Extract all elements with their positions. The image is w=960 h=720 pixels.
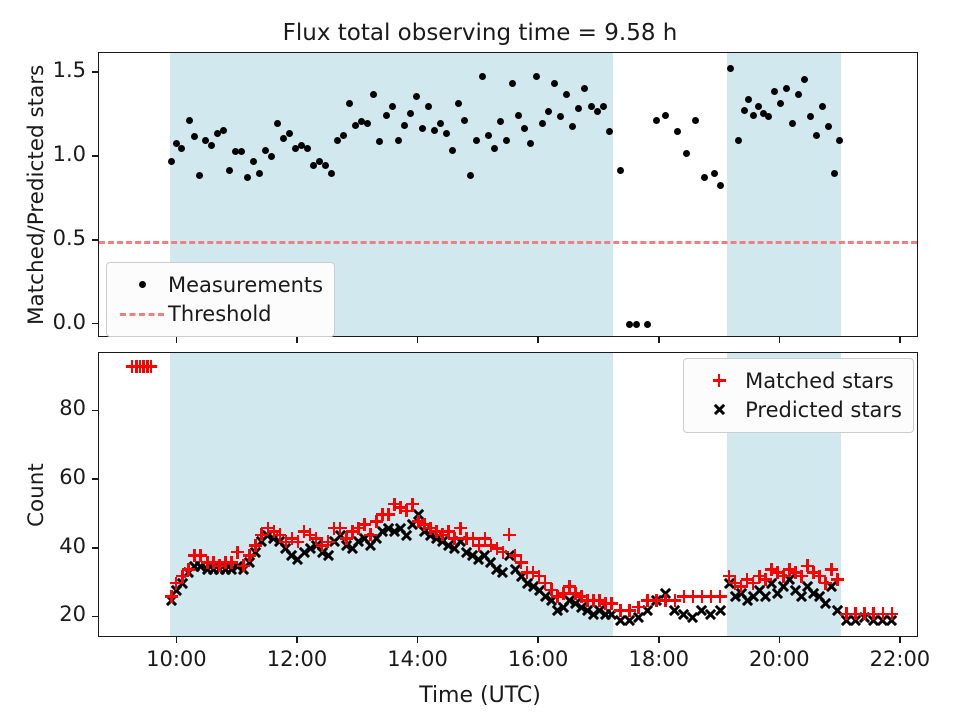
measurement-point	[503, 137, 510, 144]
predicted-star-point	[279, 542, 292, 555]
matched-star-point	[581, 594, 594, 607]
matched-star-point	[328, 522, 341, 535]
x-tick-mark	[417, 337, 419, 343]
matched-star-point	[442, 525, 455, 538]
measurement-point	[765, 113, 772, 120]
matched-star-point	[867, 607, 880, 620]
measurement-point	[745, 96, 752, 103]
predicted-star-point	[581, 604, 594, 617]
predicted-star-point	[789, 583, 802, 596]
matched-star-point	[825, 563, 838, 576]
x-tick-mark	[417, 637, 419, 643]
y-tick-mark	[92, 155, 98, 157]
measurement-point	[711, 170, 718, 177]
predicted-star-point	[533, 583, 546, 596]
measurement-point	[551, 80, 558, 87]
predicted-star-point	[388, 525, 401, 538]
predicted-star-point	[885, 614, 898, 627]
x-tick-mark	[899, 337, 901, 343]
matched-star-point	[255, 528, 268, 541]
predicted-star-point	[201, 563, 214, 576]
matched-star-point	[130, 360, 143, 373]
predicted-star-point	[575, 601, 588, 614]
predicted-star-point	[831, 604, 844, 617]
predicted-star-point	[765, 577, 778, 590]
measurement-point	[232, 148, 239, 155]
top-panel-legend: Measurements Threshold	[106, 262, 335, 337]
x-tick-mark	[779, 337, 781, 343]
matched-star-point	[659, 594, 672, 607]
x-axis-label: Time (UTC)	[0, 683, 960, 708]
predicted-star-point	[807, 587, 820, 600]
y-tick-mark	[92, 478, 98, 480]
predicted-star-point	[509, 563, 522, 576]
matched-star-point	[735, 580, 748, 593]
predicted-star-point	[819, 597, 832, 610]
y-tick-mark	[92, 323, 98, 325]
measurement-point	[364, 120, 371, 127]
measurement-point	[539, 120, 546, 127]
matched-star-point	[484, 539, 497, 552]
measurement-point	[485, 132, 492, 139]
matched-star-point	[807, 566, 820, 579]
measurement-point	[521, 125, 528, 132]
matched-star-point	[400, 504, 413, 517]
predicted-star-point	[188, 559, 201, 572]
measurement-point	[479, 73, 486, 80]
matched-star-point	[831, 573, 844, 586]
matched-star-point	[557, 587, 570, 600]
predicted-star-point	[545, 594, 558, 607]
y-tick-label: 40	[59, 534, 86, 558]
matched-star-point	[316, 539, 329, 552]
matched-star-point	[668, 594, 681, 607]
predicted-star-point	[182, 566, 195, 579]
legend-item-predicted-stars[interactable]: Predicted stars	[695, 395, 902, 424]
measurement-point	[836, 137, 843, 144]
predicted-star-point	[686, 611, 699, 624]
predicted-star-point	[328, 535, 341, 548]
predicted-star-point	[358, 532, 371, 545]
measurement-point	[298, 142, 305, 149]
matched-star-point	[267, 525, 280, 538]
x-tick-label: 18:00	[617, 647, 701, 671]
x-tick-label: 20:00	[737, 647, 821, 671]
measurement-point	[533, 73, 540, 80]
measurement-point	[202, 137, 209, 144]
matched-star-point	[765, 563, 778, 576]
legend-item-matched-stars[interactable]: Matched stars	[695, 366, 902, 395]
matched-star-point	[729, 577, 742, 590]
predicted-star-point	[723, 577, 736, 590]
matched-star-point	[213, 559, 226, 572]
plus-marker-icon	[695, 370, 743, 392]
matched-star-point	[478, 532, 491, 545]
predicted-star-point	[207, 563, 220, 576]
predicted-star-point	[165, 594, 178, 607]
predicted-star-point	[599, 607, 612, 620]
matched-star-point	[641, 594, 654, 607]
predicted-star-point	[194, 559, 207, 572]
predicted-star-point	[370, 532, 383, 545]
matched-star-point	[789, 566, 802, 579]
predicted-star-point	[322, 549, 335, 562]
matched-star-point	[304, 528, 317, 541]
matched-star-point	[188, 549, 201, 562]
matched-star-point	[545, 583, 558, 596]
matched-star-point	[771, 566, 784, 579]
measurement-point	[750, 112, 757, 119]
x-tick-label: 22:00	[858, 647, 942, 671]
predicted-star-point	[213, 563, 226, 576]
measurement-point	[443, 130, 450, 137]
matched-star-point	[840, 607, 853, 620]
predicted-star-point	[231, 559, 244, 572]
predicted-star-point	[557, 601, 570, 614]
measurement-point	[563, 91, 570, 98]
measurement-point	[473, 137, 480, 144]
matched-star-point	[352, 522, 365, 535]
predicted-star-point	[490, 563, 503, 576]
legend-label-measurements: Measurements	[166, 273, 323, 297]
predicted-star-point	[352, 535, 365, 548]
y-tick-label: 20	[59, 602, 86, 626]
predicted-star-point	[478, 549, 491, 562]
matched-star-point	[182, 563, 195, 576]
measurement-point	[515, 112, 522, 119]
matched-star-point	[237, 559, 250, 572]
matched-star-point	[623, 604, 636, 617]
predicted-star-point	[448, 542, 461, 555]
y-tick-label: 0.0	[53, 310, 86, 334]
predicted-star-point	[677, 607, 690, 620]
measurement-point	[358, 118, 365, 125]
predicted-star-point	[695, 604, 708, 617]
predicted-star-point	[484, 556, 497, 569]
measurement-point	[467, 172, 474, 179]
matched-star-point	[340, 532, 353, 545]
shaded-observation-band	[170, 353, 613, 636]
measurement-point	[340, 132, 347, 139]
matched-star-point	[243, 549, 256, 562]
measurement-point	[701, 174, 708, 181]
matched-star-point	[364, 528, 377, 541]
measurement-point	[491, 145, 498, 152]
matched-star-point	[783, 563, 796, 576]
matched-star-point	[849, 607, 862, 620]
matched-star-point	[346, 525, 359, 538]
measurement-point	[352, 122, 359, 129]
predicted-star-point	[735, 587, 748, 600]
matched-star-point	[137, 360, 150, 373]
matched-star-point	[587, 594, 600, 607]
matched-star-point	[466, 532, 479, 545]
predicted-star-point	[614, 614, 627, 627]
predicted-star-point	[650, 594, 663, 607]
measurement-point	[717, 182, 724, 189]
measurement-point	[735, 137, 742, 144]
matched-star-point	[322, 535, 335, 548]
predicted-star-point	[801, 580, 814, 593]
predicted-star-point	[849, 614, 862, 627]
matched-star-point	[599, 597, 612, 610]
measurement-point	[783, 85, 790, 92]
matched-star-point	[777, 570, 790, 583]
matched-star-point	[201, 556, 214, 569]
predicted-star-point	[466, 549, 479, 562]
matched-star-point	[753, 570, 766, 583]
measurement-point	[431, 127, 438, 134]
y-tick-mark	[92, 239, 98, 241]
measurement-point	[771, 88, 778, 95]
predicted-star-point	[813, 590, 826, 603]
predicted-star-point	[858, 611, 871, 624]
predicted-star-point	[436, 535, 449, 548]
measurement-point	[419, 125, 426, 132]
predicted-star-point	[515, 570, 528, 583]
matched-star-point	[279, 535, 292, 548]
predicted-star-point	[569, 597, 582, 610]
matplotlib-figure: Flux total observing time = 9.58 h 0.00.…	[0, 0, 960, 720]
predicted-star-point	[225, 563, 238, 576]
matched-star-point	[170, 577, 183, 590]
predicted-star-point	[394, 522, 407, 535]
measurement-point	[588, 103, 595, 110]
matched-star-point	[704, 590, 717, 603]
predicted-star-point	[304, 542, 317, 555]
measurement-point	[575, 105, 582, 112]
measurement-point	[594, 108, 601, 115]
predicted-star-point	[382, 522, 395, 535]
matched-star-point	[677, 590, 690, 603]
measurement-point	[760, 110, 767, 117]
y-tick-label: 1.0	[53, 142, 86, 166]
matched-star-point	[144, 360, 157, 373]
measurement-point	[461, 117, 468, 124]
predicted-star-point	[496, 566, 509, 579]
measurement-point	[173, 140, 180, 147]
predicted-star-point	[867, 614, 880, 627]
matched-star-point	[406, 498, 419, 511]
matched-star-point	[310, 532, 323, 545]
predicted-star-point	[729, 590, 742, 603]
predicted-star-point	[668, 604, 681, 617]
matched-star-point	[632, 601, 645, 614]
predicted-star-point	[376, 525, 389, 538]
measurement-point	[376, 138, 383, 145]
predicted-star-point	[551, 604, 564, 617]
predicted-star-point	[527, 580, 540, 593]
measurement-point	[527, 140, 534, 147]
matched-star-point	[569, 587, 582, 600]
matched-star-point	[126, 360, 139, 373]
predicted-star-point	[563, 594, 576, 607]
predicted-star-point	[170, 583, 183, 596]
bottom-panel-legend: Matched stars Predicted stars	[683, 358, 914, 433]
legend-label-threshold: Threshold	[166, 302, 272, 326]
predicted-star-point	[298, 546, 311, 559]
matched-star-point	[231, 546, 244, 559]
matched-star-point	[207, 556, 220, 569]
predicted-star-point	[840, 614, 853, 627]
matched-star-point	[575, 590, 588, 603]
predicted-star-point	[593, 604, 606, 617]
matched-star-point	[650, 594, 663, 607]
predicted-star-point	[340, 539, 353, 552]
predicted-star-point	[753, 583, 766, 596]
matched-star-point	[741, 573, 754, 586]
predicted-star-point	[521, 577, 534, 590]
shaded-observation-band	[727, 53, 840, 336]
matched-star-point	[521, 566, 534, 579]
predicted-star-point	[605, 607, 618, 620]
measurement-point	[262, 147, 269, 154]
measurement-point	[334, 137, 341, 144]
predicted-star-point	[460, 546, 473, 559]
matched-star-point	[723, 570, 736, 583]
predicted-star-point	[777, 580, 790, 593]
legend-item-measurements[interactable]: Measurements	[118, 270, 323, 299]
threshold-dashed-line-icon	[118, 303, 166, 325]
matched-star-point	[430, 525, 443, 538]
measurement-point	[268, 153, 275, 160]
x-tick-label: 14:00	[376, 647, 460, 671]
measurement-point	[322, 162, 329, 169]
matched-star-point	[261, 522, 274, 535]
x-tick-mark	[658, 637, 660, 643]
matched-star-point	[472, 539, 485, 552]
measurements-marker-icon	[118, 274, 166, 296]
measurement-point	[633, 321, 640, 328]
x-tick-mark	[899, 637, 901, 643]
matched-star-point	[165, 590, 178, 603]
predicted-star-point	[795, 590, 808, 603]
x-tick-mark	[176, 637, 178, 643]
measurement-point	[557, 113, 564, 120]
matched-star-point	[714, 590, 727, 603]
matched-star-point	[563, 580, 576, 593]
predicted-star-point	[759, 590, 772, 603]
measurement-point	[286, 130, 293, 137]
measurement-point	[256, 170, 263, 177]
measurement-point	[692, 117, 699, 124]
predicted-star-point	[310, 539, 323, 552]
matched-star-point	[527, 566, 540, 579]
predicted-star-point	[267, 532, 280, 545]
y-tick-mark	[92, 616, 98, 618]
matched-star-point	[509, 549, 522, 562]
predicted-star-point	[825, 580, 838, 593]
matched-star-point	[194, 549, 207, 562]
matched-star-point	[418, 518, 431, 531]
measurement-point	[214, 130, 221, 137]
matched-star-point	[795, 570, 808, 583]
y-tick-label: 80	[59, 396, 86, 420]
predicted-star-point	[771, 587, 784, 600]
predicted-star-point	[424, 528, 437, 541]
x-tick-mark	[537, 337, 539, 343]
matched-star-point	[605, 597, 618, 610]
measurement-point	[383, 112, 390, 119]
measurement-point	[581, 85, 588, 92]
x-tick-label: 12:00	[255, 647, 339, 671]
measurement-point	[186, 117, 193, 124]
measurement-point	[389, 103, 396, 110]
measurement-point	[292, 145, 299, 152]
matched-star-point	[176, 570, 189, 583]
measurement-point	[425, 103, 432, 110]
measurement-point	[662, 112, 669, 119]
predicted-star-point	[632, 611, 645, 624]
x-tick-mark	[537, 637, 539, 643]
matched-star-point	[490, 542, 503, 555]
x-tick-mark	[296, 637, 298, 643]
threshold-line	[99, 241, 917, 244]
measurement-point	[328, 170, 335, 177]
x-tick-label: 16:00	[496, 647, 580, 671]
measurement-point	[178, 145, 185, 152]
matched-star-point	[759, 573, 772, 586]
predicted-star-point	[430, 532, 443, 545]
measurement-point	[310, 162, 317, 169]
measurement-point	[407, 110, 414, 117]
predicted-star-point	[454, 535, 467, 548]
y-tick-mark	[92, 71, 98, 73]
matched-star-point	[141, 360, 154, 373]
predicted-star-point	[442, 539, 455, 552]
matched-star-point	[819, 577, 832, 590]
matched-star-point	[388, 498, 401, 511]
predicted-star-point	[472, 553, 485, 566]
measurement-point	[370, 91, 377, 98]
predicted-star-point	[704, 607, 717, 620]
measurement-point	[250, 158, 257, 165]
legend-label-matched-stars: Matched stars	[743, 369, 894, 393]
matched-star-point	[219, 556, 232, 569]
measurement-point	[683, 150, 690, 157]
predicted-star-point	[249, 546, 262, 559]
y-tick-label: 0.5	[53, 226, 86, 250]
matched-star-point	[454, 522, 467, 535]
matched-star-point	[539, 577, 552, 590]
measurement-point	[509, 80, 516, 87]
matched-star-point	[686, 590, 699, 603]
predicted-star-point	[334, 528, 347, 541]
measurement-point	[274, 120, 281, 127]
matched-star-point	[593, 594, 606, 607]
measurement-point	[449, 147, 456, 154]
matched-star-point	[273, 528, 286, 541]
measurement-point	[741, 107, 748, 114]
measurement-point	[401, 122, 408, 129]
measurement-point	[395, 137, 402, 144]
measurement-point	[777, 100, 784, 107]
y-tick-label: 60	[59, 465, 86, 489]
measurement-point	[226, 167, 233, 174]
measurement-point	[831, 170, 838, 177]
x-tick-mark	[296, 337, 298, 343]
predicted-star-point	[623, 614, 636, 627]
measurement-point	[220, 127, 227, 134]
predicted-star-point	[412, 508, 425, 521]
x-tick-mark	[779, 637, 781, 643]
matched-star-point	[614, 604, 627, 617]
measurement-point	[755, 103, 762, 110]
matched-star-point	[298, 525, 311, 538]
matched-star-point	[291, 535, 304, 548]
matched-star-point	[382, 508, 395, 521]
legend-item-threshold[interactable]: Threshold	[118, 299, 323, 328]
